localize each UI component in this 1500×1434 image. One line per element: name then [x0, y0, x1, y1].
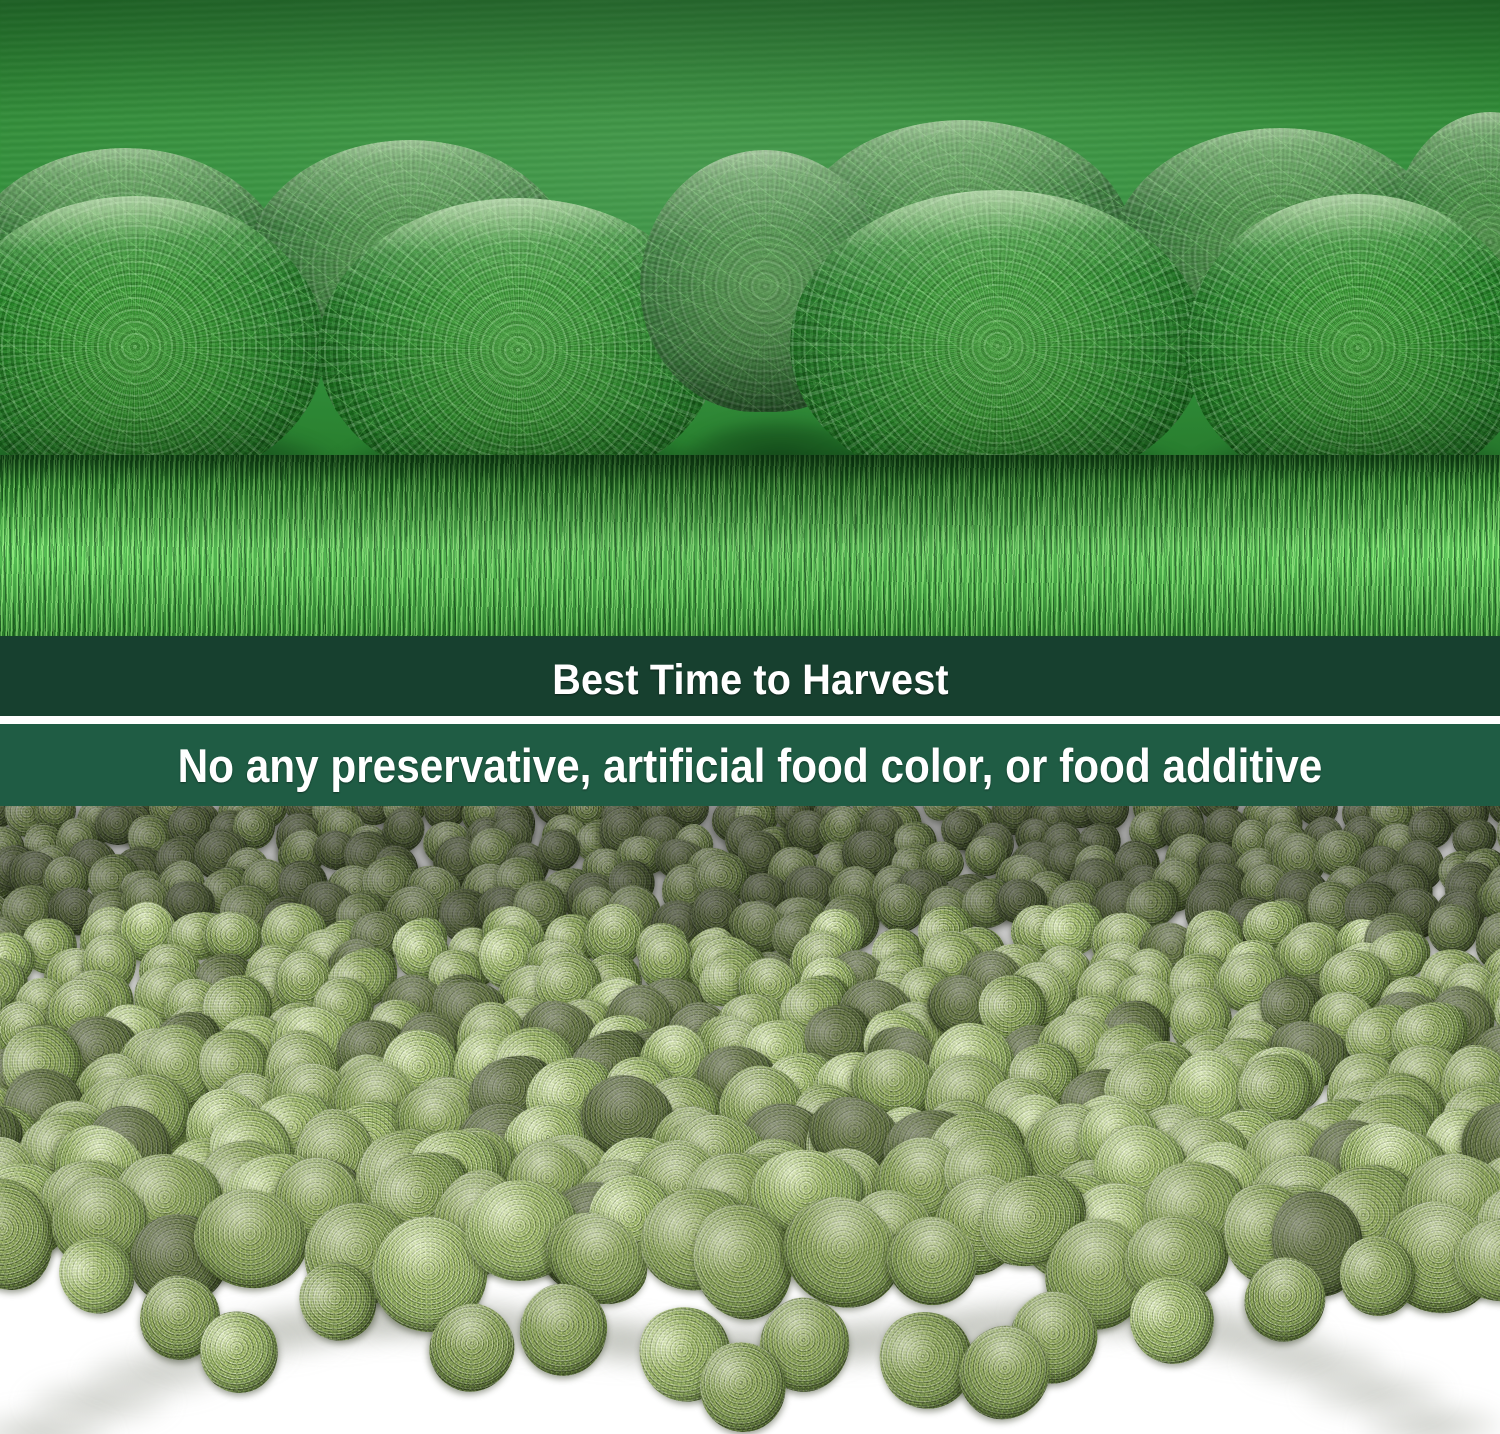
banner-best-time-to-harvest: Best Time to Harvest: [0, 645, 1500, 716]
banner-divider: [0, 716, 1500, 724]
pellet-pile: [0, 806, 1500, 1434]
photo-bottom-edge: [0, 636, 1500, 645]
hay-field-photo: [0, 0, 1500, 645]
banner-secondary-text: No any preservative, artificial food col…: [178, 742, 1323, 789]
banner-primary-text: Best Time to Harvest: [552, 659, 949, 702]
banner-no-preservatives: No any preservative, artificial food col…: [0, 724, 1500, 806]
product-infographic-page: Best Time to Harvest No any preservative…: [0, 0, 1500, 1434]
hay-pellets-photo: [0, 806, 1500, 1434]
mowed-grass-foreground: [0, 455, 1500, 645]
